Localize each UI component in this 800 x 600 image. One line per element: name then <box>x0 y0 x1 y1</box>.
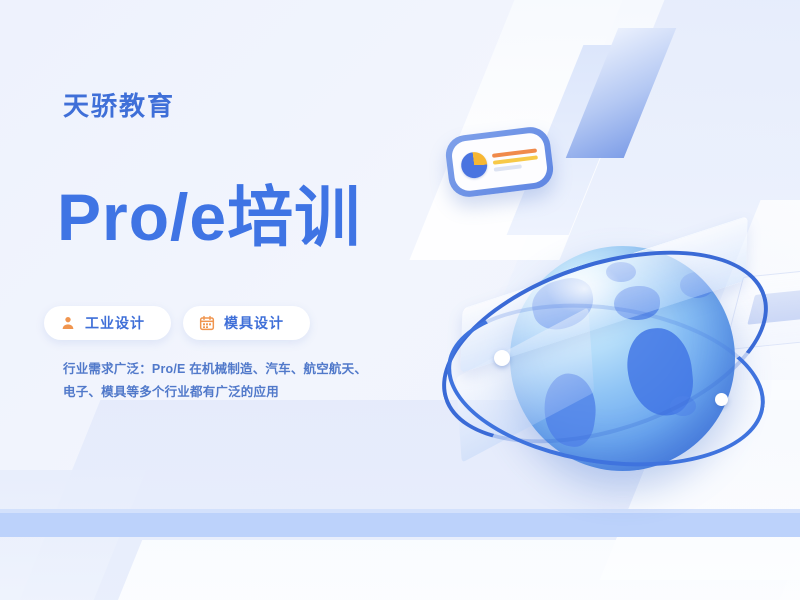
course-promo-banner: 天骄教育 Pro/e培训 工业设计 模具设计 行业需求广泛：Pro/E 在机 <box>0 0 800 600</box>
chart-card-body <box>450 132 548 193</box>
brand-name: 天骄教育 <box>63 86 175 123</box>
bar-grey-icon <box>494 164 522 171</box>
bg-slab-accent-gradient <box>566 28 677 158</box>
bg-slab-lower-left <box>0 470 146 600</box>
tag-pill-group: 工业设计 模具设计 <box>44 306 310 340</box>
floating-chart-card <box>444 125 556 199</box>
chart-card-frame <box>444 125 556 199</box>
tag-pill-industrial-design[interactable]: 工业设计 <box>44 306 171 340</box>
bg-slab-lower <box>98 540 800 600</box>
tag-pill-label: 模具设计 <box>224 313 284 333</box>
bar-chart-group <box>492 148 539 171</box>
orbit-node-icon <box>494 350 510 366</box>
user-icon <box>60 315 76 331</box>
page-title: Pro/e培训 <box>57 184 361 250</box>
description-text: 行业需求广泛：Pro/E 在机械制造、汽车、航空航天、电子、模具等多个行业都有广… <box>63 358 375 404</box>
globe-illustration <box>432 218 772 518</box>
pie-chart-icon <box>460 151 489 180</box>
calendar-icon <box>199 315 215 331</box>
tag-pill-label: 工业设计 <box>85 313 145 333</box>
tag-pill-mold-design[interactable]: 模具设计 <box>183 306 310 340</box>
orbit-node-icon <box>715 393 728 406</box>
